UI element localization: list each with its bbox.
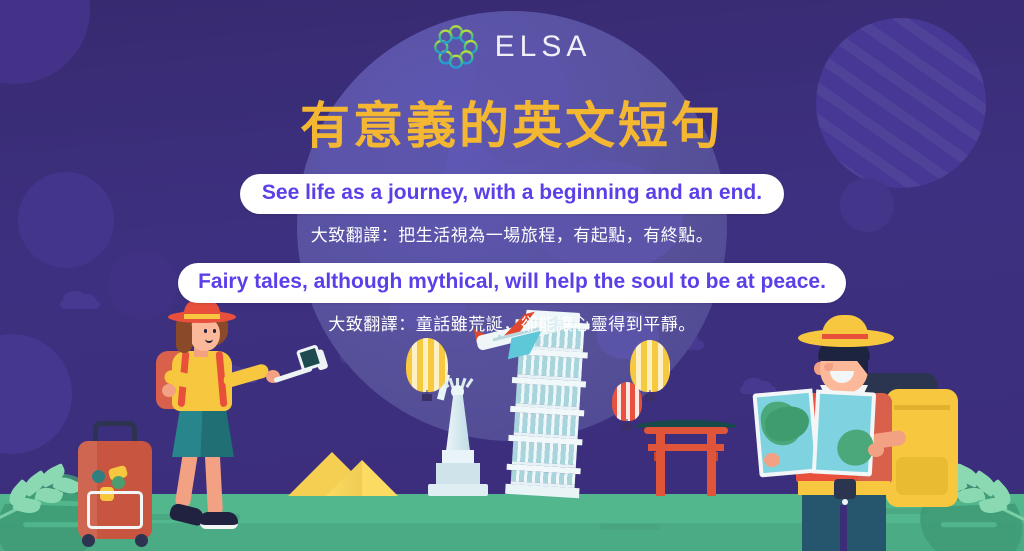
hot-air-balloon-icon [612, 382, 642, 421]
quote-1: See life as a journey, with a beginning … [0, 158, 1024, 214]
header: ELSA 有意義的英文短句 See life as a journey, wit… [0, 0, 1024, 335]
torii-gate-icon [640, 420, 732, 496]
planet-bottom-left [0, 334, 72, 454]
elsa-star-flower-icon [433, 24, 479, 70]
quote-1-english: See life as a journey, with a beginning … [240, 174, 784, 214]
rolling-suitcase-icon [78, 435, 152, 545]
hot-air-balloon-icon [406, 338, 448, 392]
brand-name: ELSA [495, 30, 592, 64]
brand-logo[interactable]: ELSA [0, 0, 1024, 70]
quote-2-translation: 大致翻譯：童話雖荒誕，卻能讓心靈得到平靜。 [0, 310, 1024, 335]
page-title: 有意義的英文短句 [0, 86, 1024, 158]
man-traveler-illustration [762, 315, 962, 551]
quote-2: Fairy tales, although mythical, will hel… [0, 246, 1024, 303]
quote-1-translation: 大致翻譯：把生活視為一場旅程，有起點，有終點。 [0, 221, 1024, 246]
elsa-quote-banner: ELSA 有意義的英文短句 See life as a journey, wit… [0, 0, 1024, 551]
quote-2-english: Fairy tales, although mythical, will hel… [178, 263, 846, 303]
